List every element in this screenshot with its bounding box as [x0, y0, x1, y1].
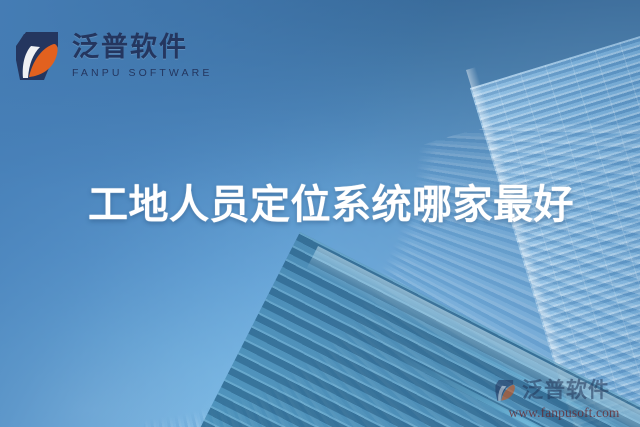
watermark-url: www.fanpusoft.com: [494, 406, 634, 420]
fanpu-logo-mark-icon: [494, 378, 517, 403]
logo-name-cn: 泛普软件: [72, 34, 212, 61]
promo-banner: 泛普软件 FANPU SOFTWARE 工地人员定位系统哪家最好 泛普软件 ww…: [0, 0, 640, 427]
logo-text-group: 泛普软件 FANPU SOFTWARE: [72, 34, 212, 79]
watermark: 泛普软件 www.fanpusoft.com: [494, 378, 634, 420]
page-title: 工地人员定位系统哪家最好: [88, 185, 574, 225]
brand-logo[interactable]: 泛普软件 FANPU SOFTWARE: [14, 30, 212, 82]
watermark-name-cn: 泛普软件: [522, 380, 610, 401]
logo-name-en: FANPU SOFTWARE: [72, 68, 212, 79]
fanpu-logo-mark-icon: [14, 30, 62, 82]
watermark-brand-row: 泛普软件: [494, 378, 634, 403]
